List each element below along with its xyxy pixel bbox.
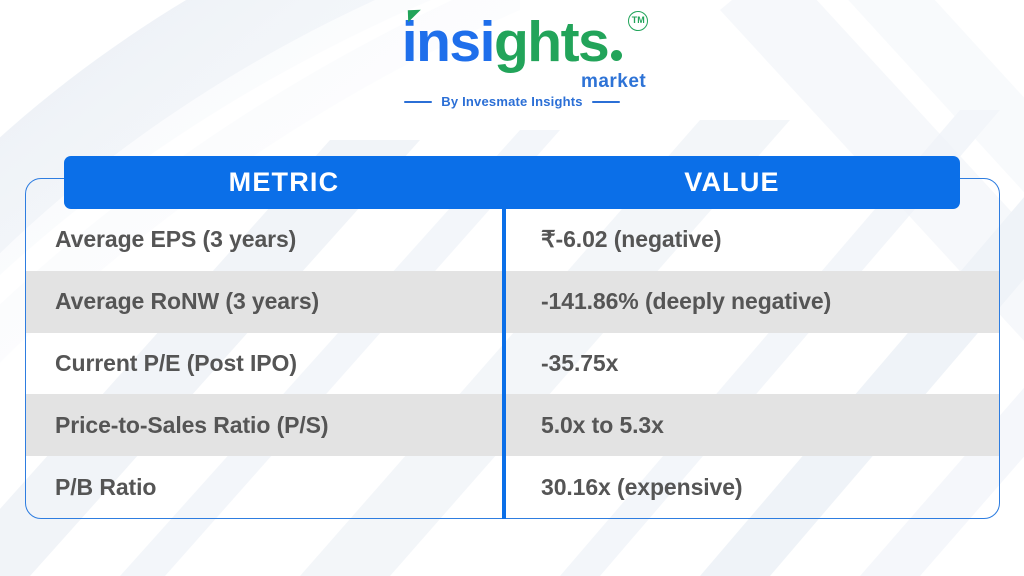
table-cell-value: -141.86% (deeply negative) (503, 288, 999, 315)
table-cell-metric: Price-to-Sales Ratio (P/S) (26, 412, 503, 439)
trademark-icon: TM (628, 11, 648, 31)
table-cell-metric: P/B Ratio (26, 474, 503, 501)
table-header-metric: METRIC (64, 167, 504, 198)
logo-sub-label: market (581, 72, 646, 91)
table-row: Average EPS (3 years) ₹-6.02 (negative) (26, 209, 999, 271)
table-row: Current P/E (Post IPO) -35.75x (26, 333, 999, 395)
slide-canvas: insights TM market By Invesmate Insights… (0, 0, 1024, 576)
table-cell-value: -35.75x (503, 350, 999, 377)
logo-text-secondary: ghts (494, 10, 608, 74)
logo-dot-icon (611, 50, 622, 61)
table-row: Price-to-Sales Ratio (P/S) 5.0x to 5.3x (26, 394, 999, 456)
column-divider (502, 208, 506, 519)
table-cell-metric: Current P/E (Post IPO) (26, 350, 503, 377)
table-row: P/B Ratio 30.16x (expensive) (26, 456, 999, 518)
table-cell-metric: Average RoNW (3 years) (26, 288, 503, 315)
table-header-value: VALUE (504, 167, 960, 198)
logo-check-accent-icon (408, 10, 421, 22)
tagline-rule-left (404, 101, 432, 103)
brand-tagline: By Invesmate Insights (0, 93, 1024, 111)
brand-logo: insights TM market (0, 14, 1024, 71)
metrics-table-header: METRIC VALUE (64, 156, 960, 209)
logo-wordmark: insights TM market (402, 14, 623, 71)
table-cell-value: ₹-6.02 (negative) (503, 226, 999, 253)
tagline-label: By Invesmate Insights (441, 94, 582, 109)
table-row: Average RoNW (3 years) -141.86% (deeply … (26, 271, 999, 333)
table-cell-value: 30.16x (expensive) (503, 474, 999, 501)
metrics-table-body: Average EPS (3 years) ₹-6.02 (negative) … (26, 209, 999, 518)
tagline-rule-right (592, 101, 620, 103)
table-cell-metric: Average EPS (3 years) (26, 226, 503, 253)
table-cell-value: 5.0x to 5.3x (503, 412, 999, 439)
